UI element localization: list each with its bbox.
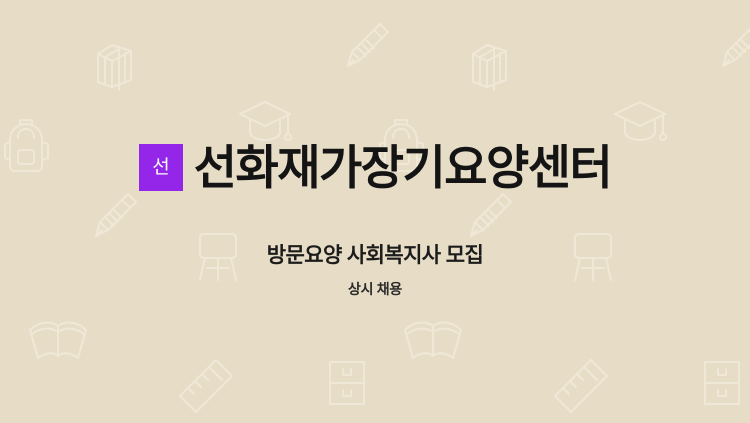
- hiring-type-label: 상시 채용: [348, 282, 402, 296]
- job-posting-banner: 선 선화재가장기요양센터 방문요양 사회복지사 모집 상시 채용: [0, 0, 750, 423]
- job-info-block: 방문요양 사회복지사 모집 상시 채용: [267, 245, 483, 296]
- job-title: 방문요양 사회복지사 모집: [267, 245, 483, 266]
- banner-content: 선 선화재가장기요양센터 방문요양 사회복지사 모집 상시 채용: [0, 0, 750, 423]
- company-name: 선화재가장기요양센터: [194, 144, 611, 191]
- company-logo-badge-text: 선: [152, 158, 169, 177]
- company-logo-badge: 선: [139, 144, 183, 191]
- company-title-row: 선 선화재가장기요양센터: [139, 136, 611, 198]
